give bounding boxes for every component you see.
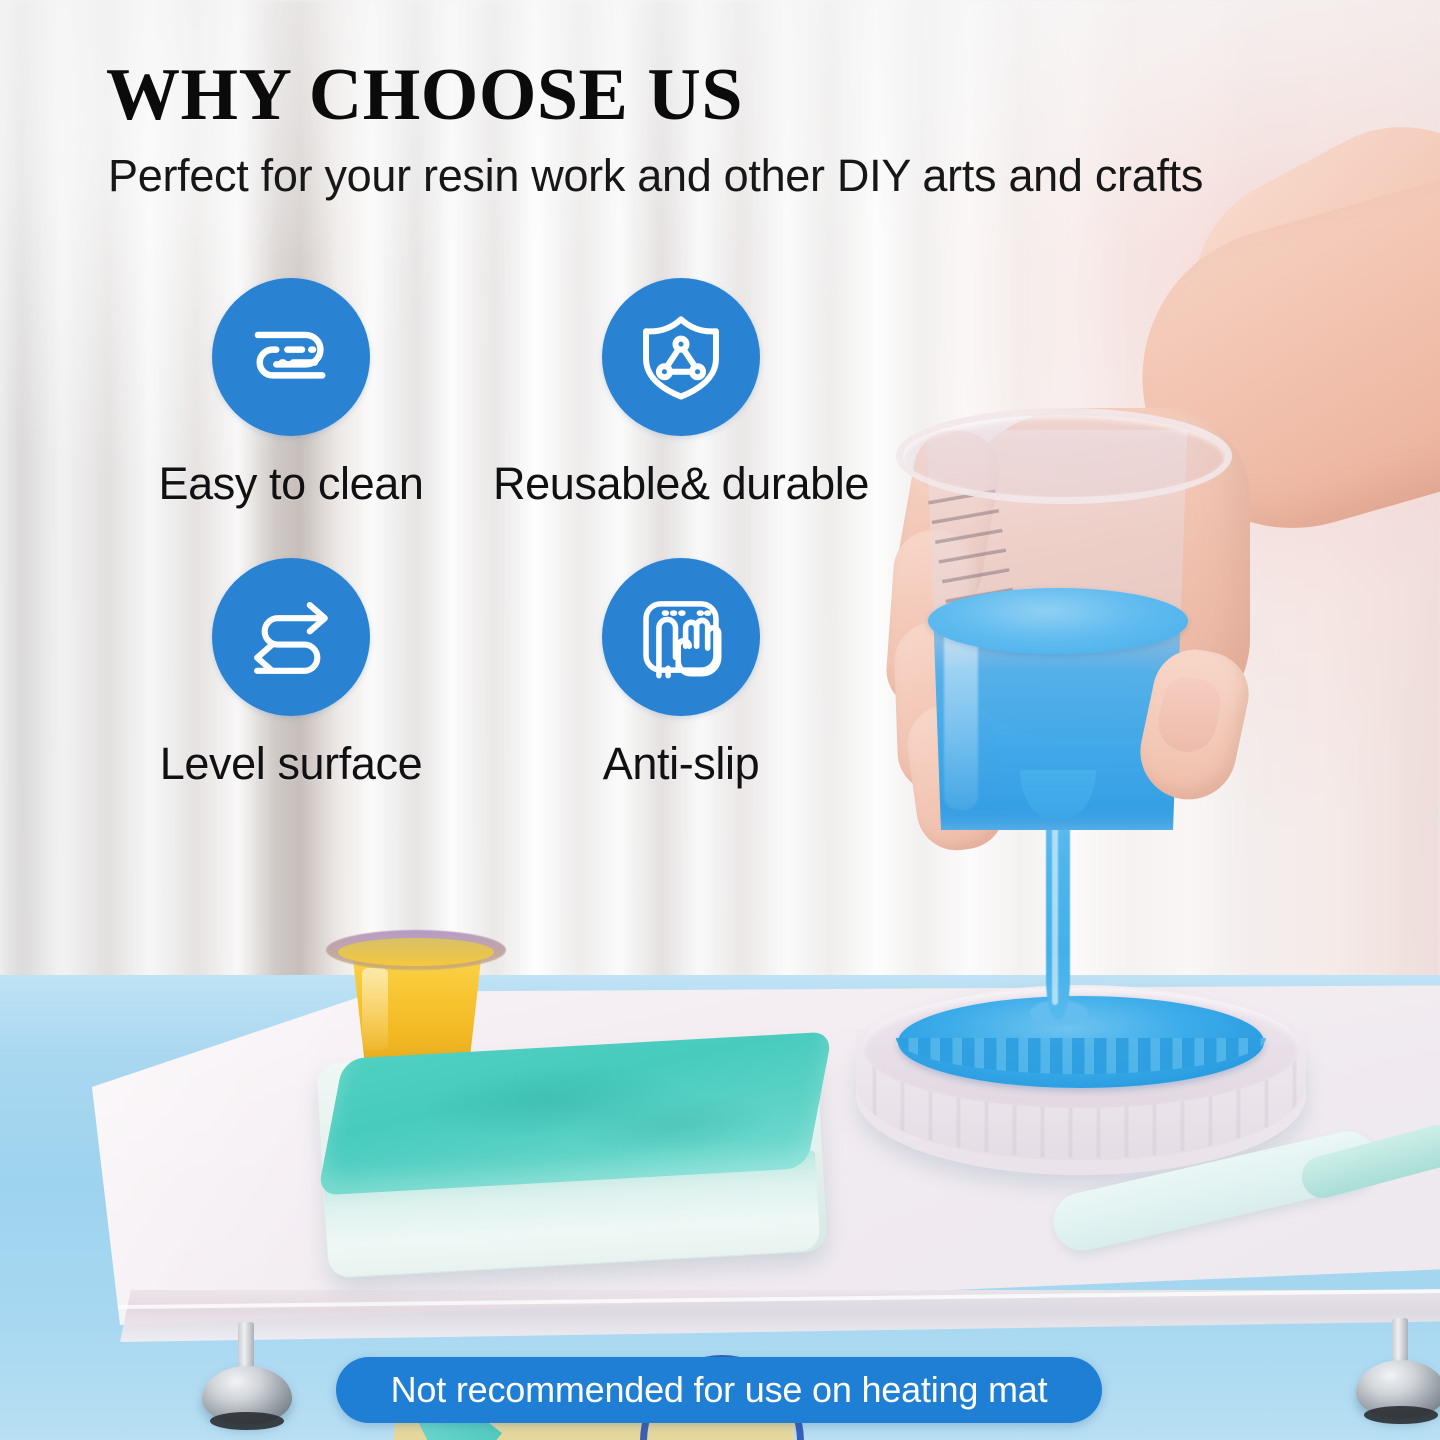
feature-level-surface: Level surface — [96, 558, 486, 790]
feature-icon-circle — [602, 558, 760, 716]
product-marketing-image: WHY CHOOSE US Perfect for your resin wor… — [0, 0, 1440, 1440]
feature-anti-slip: Anti-slip — [486, 558, 876, 790]
measuring-cup-highlight — [944, 620, 978, 810]
leveling-foot-left — [202, 1366, 292, 1424]
yellow-cup-rim — [338, 938, 494, 966]
feature-icon-circle — [602, 278, 760, 436]
leveling-foot-screw-left — [238, 1322, 254, 1368]
feature-label: Anti-slip — [603, 738, 759, 790]
feature-icon-circle — [212, 558, 370, 716]
feature-icon-circle — [212, 278, 370, 436]
warning-banner: Not recommended for use on heating mat — [336, 1357, 1102, 1423]
leveling-foot-screw-right — [1392, 1318, 1408, 1364]
page-title: WHY CHOOSE US — [106, 58, 743, 132]
measuring-cup-liquid-surface — [928, 588, 1188, 654]
page-subtitle: Perfect for your resin work and other DI… — [108, 150, 1203, 202]
hand-on-mat-icon — [635, 591, 727, 683]
feature-row-1: Easy to clean — [96, 278, 876, 510]
feature-label: Easy to clean — [159, 458, 424, 510]
leveling-foot-right — [1356, 1360, 1440, 1418]
warning-banner-text: Not recommended for use on heating mat — [391, 1369, 1048, 1411]
feature-reusable-durable: Reusable& durable — [486, 278, 876, 510]
shield-molecule-icon — [635, 311, 727, 403]
feature-label: Level surface — [160, 738, 422, 790]
measuring-cup-rim — [896, 408, 1232, 504]
yellow-cup-highlight — [362, 968, 388, 1050]
feature-label: Reusable& durable — [493, 458, 869, 510]
feature-grid: Easy to clean — [96, 278, 876, 790]
feature-easy-to-clean: Easy to clean — [96, 278, 486, 510]
feature-row-2: Level surface — [96, 558, 876, 790]
s-curve-double-arrow-icon — [244, 590, 338, 684]
wipe-path-icon — [245, 311, 337, 403]
